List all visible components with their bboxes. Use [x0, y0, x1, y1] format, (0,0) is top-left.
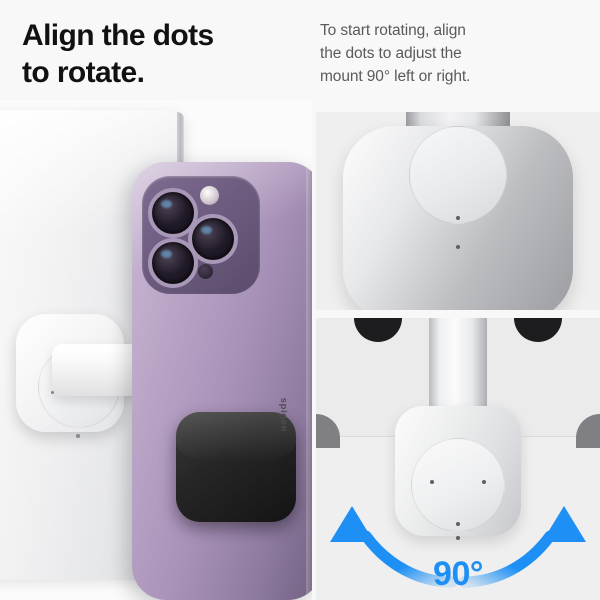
rotation-annotation: 90° — [316, 414, 600, 600]
magsafe-pad: spigen — [176, 412, 296, 522]
mount-rotating-disc — [409, 126, 507, 224]
brand-logo: spigen — [278, 398, 289, 432]
iphone-device: spigen — [132, 162, 312, 600]
lens-reflection — [201, 226, 212, 234]
lidar-sensor-icon — [198, 264, 213, 279]
detail-panel-bottom: 90° — [316, 318, 600, 600]
camera-lens-icon — [188, 214, 238, 264]
detail-panel-top — [316, 112, 600, 310]
alignment-dot-icon — [76, 434, 80, 438]
camera-flash-icon — [200, 186, 219, 205]
angle-label: 90° — [433, 555, 483, 594]
camera-module — [142, 176, 260, 294]
lens-reflection — [161, 250, 172, 258]
product-feature-card: Align the dots to rotate. To start rotat… — [0, 0, 600, 600]
alignment-dot-icon — [456, 245, 460, 249]
lens-reflection — [161, 200, 172, 208]
phone-side-edge — [306, 162, 312, 600]
headline: Align the dots to rotate. — [22, 18, 302, 91]
hero-photo: spigen — [0, 100, 312, 600]
body-copy: To start rotating, align the dots to adj… — [320, 20, 590, 89]
alignment-dot-icon — [456, 216, 460, 220]
